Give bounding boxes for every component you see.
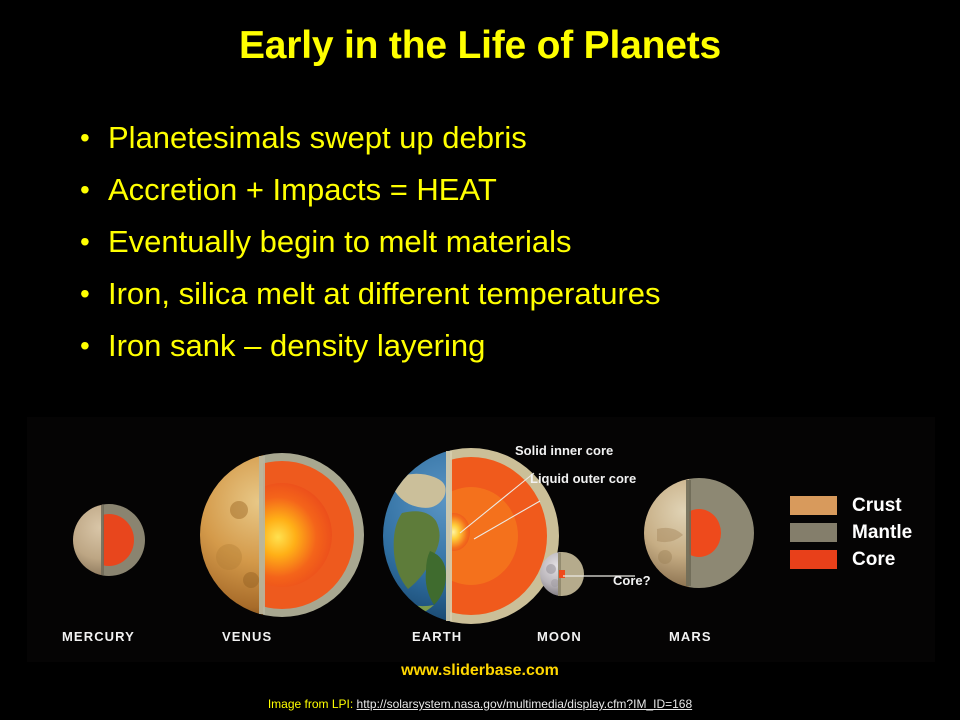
legend-item-mantle: Mantle <box>790 519 912 546</box>
image-credit: Image from LPI: http://solarsystem.nasa.… <box>0 697 960 711</box>
legend-label-core: Core <box>852 549 895 571</box>
bullet-marker-icon: • <box>80 170 108 210</box>
list-item: • Eventually begin to melt materials <box>80 222 910 274</box>
legend-swatch-core <box>790 550 837 569</box>
list-item: • Iron, silica melt at different tempera… <box>80 274 910 326</box>
image-credit-prefix: Image from LPI: <box>268 697 357 711</box>
page-title: Early in the Life of Planets <box>0 24 960 68</box>
legend-label-mantle: Mantle <box>852 522 912 544</box>
slide-canvas: Early in the Life of Planets • Planetesi… <box>0 0 960 720</box>
planet-label-venus: VENUS <box>222 629 272 644</box>
planet-label-moon: MOON <box>537 629 582 644</box>
callout-solid-inner-core: Solid inner core <box>515 443 613 458</box>
list-item: • Iron sank – density layering <box>80 326 910 378</box>
figure-legend: Crust Mantle Core <box>790 492 912 573</box>
callout-liquid-outer-core: Liquid outer core <box>530 471 636 486</box>
bullet-marker-icon: • <box>80 274 108 314</box>
image-credit-link[interactable]: http://solarsystem.nasa.gov/multimedia/d… <box>357 697 693 711</box>
bullet-marker-icon: • <box>80 222 108 262</box>
list-item-label: Iron sank – density layering <box>108 326 485 366</box>
list-item: • Planetesimals swept up debris <box>80 118 910 170</box>
watermark: www.sliderbase.com <box>0 662 960 680</box>
planet-label-mercury: MERCURY <box>62 629 135 644</box>
list-item-label: Eventually begin to melt materials <box>108 222 572 262</box>
bullet-marker-icon: • <box>80 326 108 366</box>
planet-mars-diagram <box>643 477 755 589</box>
list-item-label: Iron, silica melt at different temperatu… <box>108 274 661 314</box>
list-item-label: Accretion + Impacts = HEAT <box>108 170 497 210</box>
planet-mercury-diagram <box>72 503 146 577</box>
legend-swatch-mantle <box>790 523 837 542</box>
planet-venus-diagram <box>199 452 365 618</box>
list-item-label: Planetesimals swept up debris <box>108 118 527 158</box>
legend-item-core: Core <box>790 546 912 573</box>
callout-moon-core: Core? <box>613 573 651 588</box>
bullet-list: • Planetesimals swept up debris • Accret… <box>80 118 910 378</box>
planet-label-mars: MARS <box>669 629 712 644</box>
legend-item-crust: Crust <box>790 492 912 519</box>
list-item: • Accretion + Impacts = HEAT <box>80 170 910 222</box>
bullet-marker-icon: • <box>80 118 108 158</box>
planet-label-earth: EARTH <box>412 629 462 644</box>
legend-swatch-crust <box>790 496 837 515</box>
legend-label-crust: Crust <box>852 495 902 517</box>
